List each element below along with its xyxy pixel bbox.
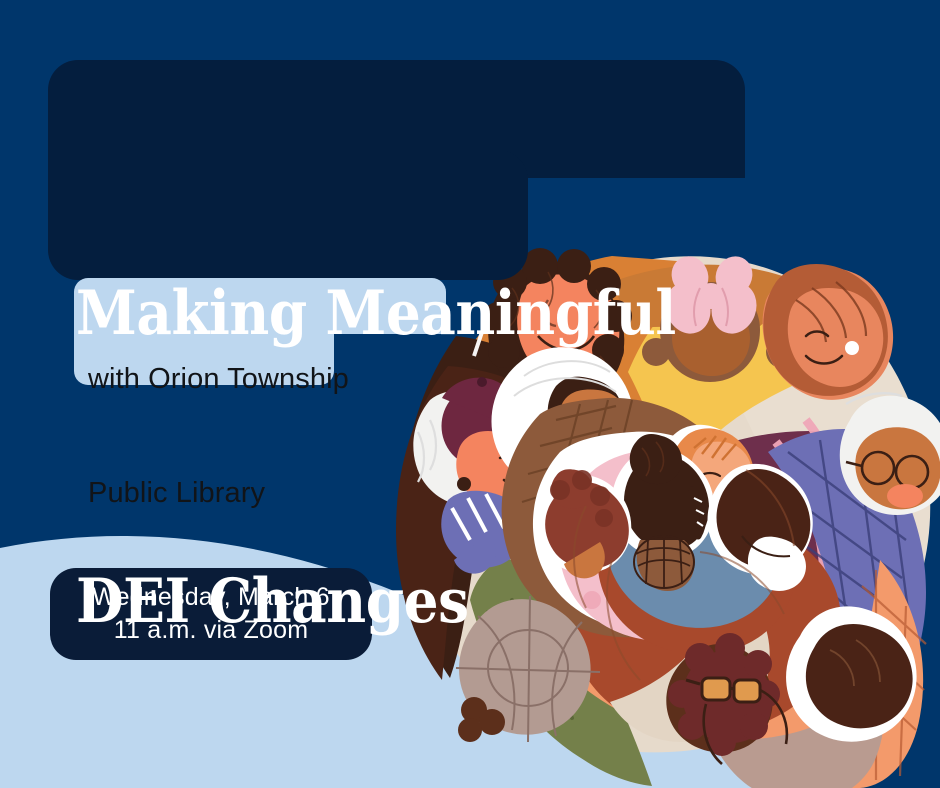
- poster-canvas: Making Meaningful DEI Changes with Orion…: [0, 0, 940, 788]
- subtitle: with Orion Township Public Library: [88, 284, 458, 588]
- subtitle-line-2: Public Library: [88, 474, 458, 512]
- subtitle-line-1: with Orion Township: [88, 360, 458, 398]
